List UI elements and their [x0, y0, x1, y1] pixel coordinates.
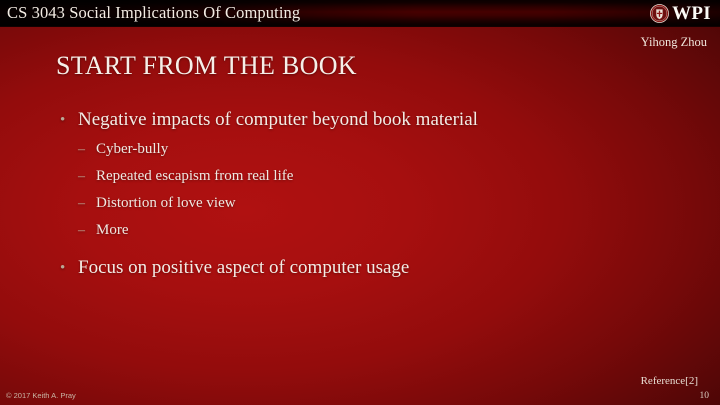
bullet-text: Focus on positive aspect of computer usa…	[78, 257, 409, 278]
sub-bullet-item: – Distortion of love view	[0, 190, 720, 217]
sub-bullet-item: – Cyber-bully	[0, 136, 720, 163]
slide-title: START FROM THE BOOK	[56, 50, 357, 82]
bullet-item: • Focus on positive aspect of computer u…	[0, 254, 720, 282]
course-title: CS 3043 Social Implications Of Computing	[7, 2, 300, 24]
sub-bullet-text: More	[96, 222, 129, 238]
bullet-item: • Negative impacts of computer beyond bo…	[0, 106, 720, 134]
slide-header-band: CS 3043 Social Implications Of Computing…	[0, 0, 720, 27]
sub-bullet-item: – Repeated escapism from real life	[0, 163, 720, 190]
wpi-logo: WPI	[650, 1, 711, 25]
sub-bullet-item: – More	[0, 217, 720, 244]
slide-number: 10	[700, 390, 710, 402]
sub-bullet-marker: –	[78, 217, 85, 244]
bullet-text: Negative impacts of computer beyond book…	[78, 109, 478, 130]
presentation-slide: CS 3043 Social Implications Of Computing…	[0, 0, 720, 405]
author-name: Yihong Zhou	[641, 35, 707, 50]
sub-bullet-text: Cyber-bully	[96, 141, 168, 157]
bullet-group-spacer	[0, 244, 720, 254]
copyright-notice: © 2017 Keith A. Pray	[6, 391, 76, 401]
reference-note: Reference[2]	[641, 374, 698, 388]
wpi-wordmark: WPI	[672, 4, 711, 23]
sub-bullet-marker: –	[78, 136, 85, 163]
sub-bullet-marker: –	[78, 163, 85, 190]
bullet-marker: •	[60, 254, 65, 282]
slide-body: • Negative impacts of computer beyond bo…	[0, 106, 720, 284]
sub-bullet-text: Distortion of love view	[96, 195, 236, 211]
bullet-marker: •	[60, 106, 65, 134]
wpi-seal-icon	[650, 4, 669, 23]
sub-bullet-marker: –	[78, 190, 85, 217]
sub-bullet-text: Repeated escapism from real life	[96, 168, 293, 184]
